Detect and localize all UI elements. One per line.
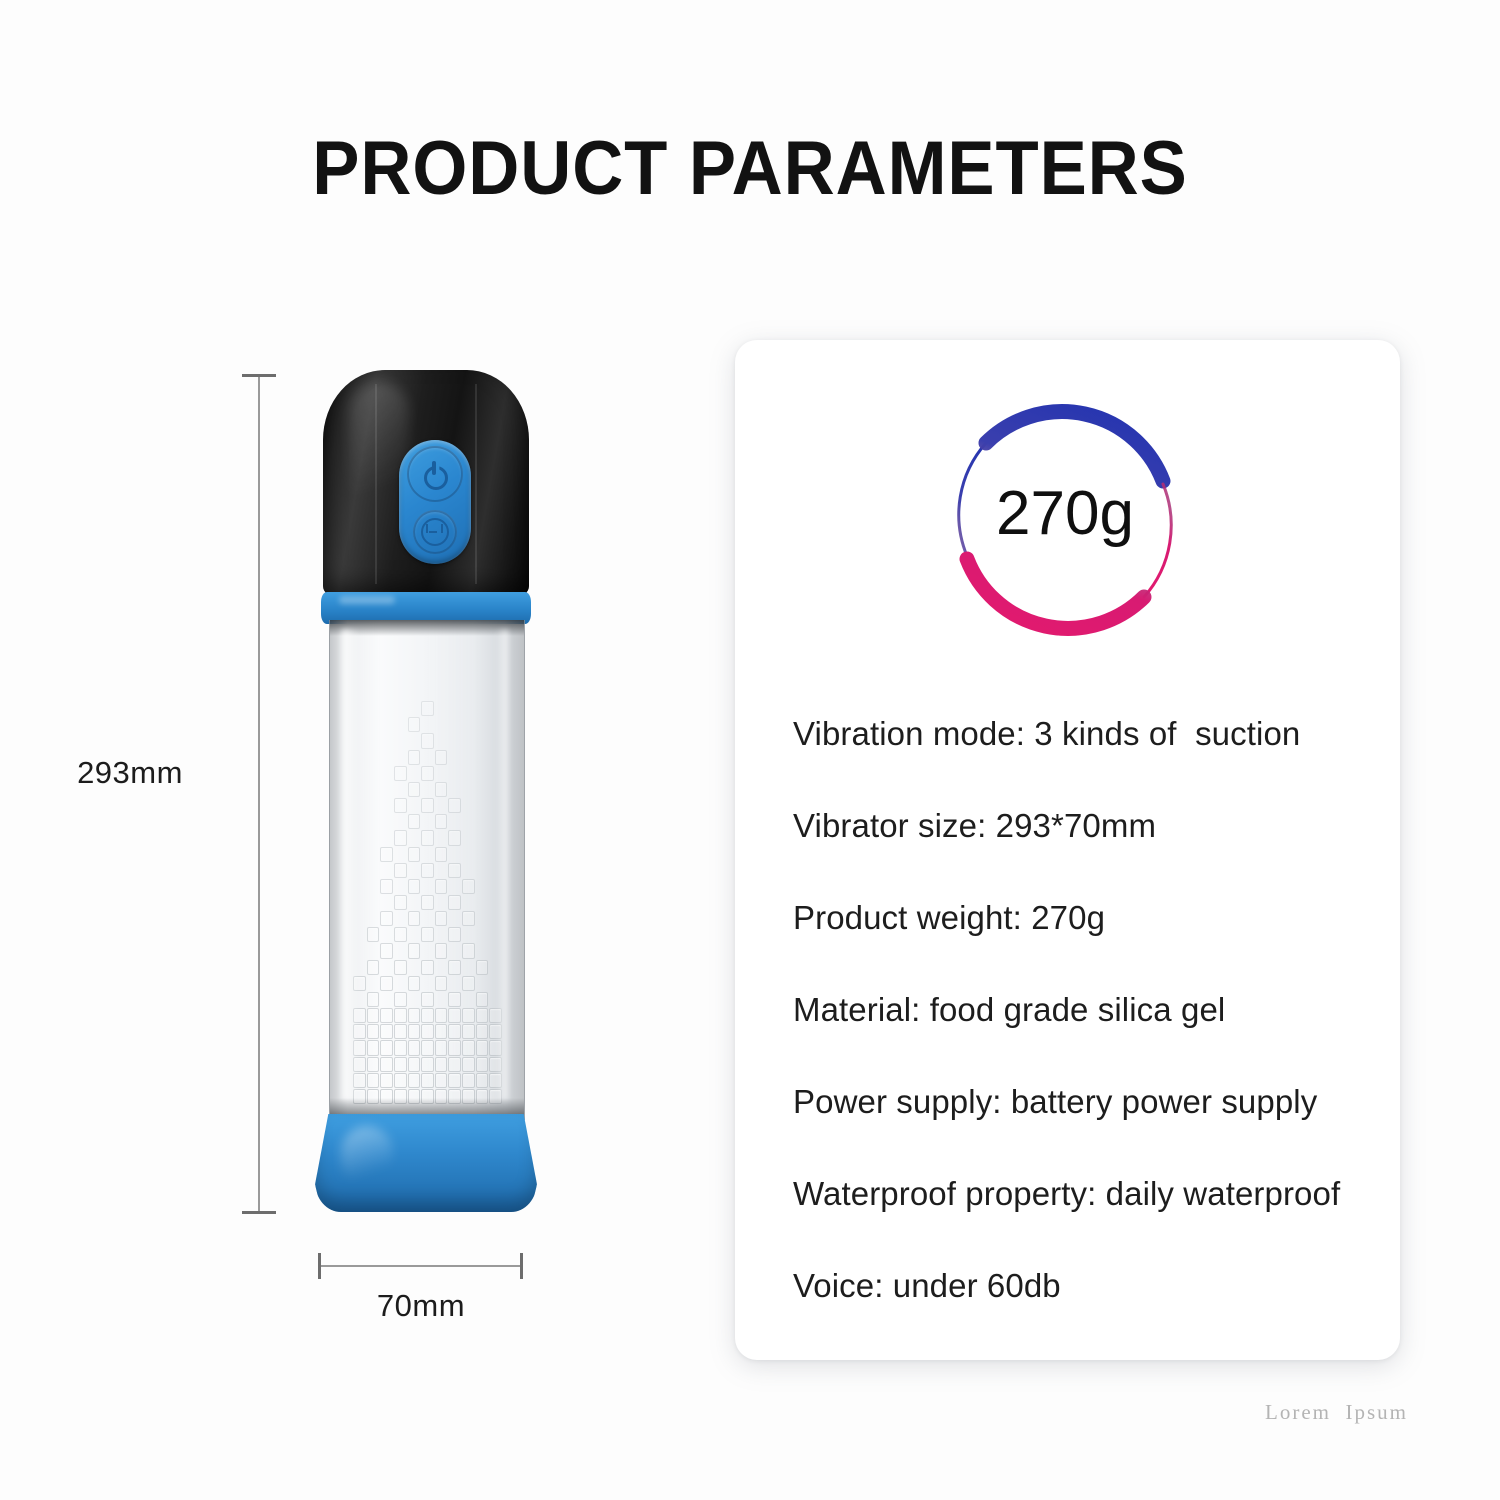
sleeve-texture-nub [448,1057,461,1072]
height-dimension-cap-bottom [242,1211,276,1214]
spec-line: Voice: under 60db [793,1240,1393,1332]
sleeve-texture-nub [380,1073,393,1088]
sleeve-texture-nub [435,1024,448,1039]
sleeve-texture-nub [421,1073,434,1088]
sleeve-texture-nub [462,1073,475,1088]
width-dimension-cap-right [520,1253,523,1279]
power-button[interactable] [407,446,463,502]
device-cap [323,370,529,598]
sleeve-texture-nub [421,1040,434,1055]
sleeve-texture-nub [448,1040,461,1055]
sleeve-texture-nub [367,1008,380,1023]
sleeve-texture-nub [394,895,407,910]
mode-button[interactable] [413,510,457,554]
sleeve-texture-nub [380,847,393,862]
sleeve-texture-nub [421,960,434,975]
sleeve-texture-nub [394,1040,407,1055]
sleeve-texture-nub [421,1024,434,1039]
sleeve-texture-nub [367,1040,380,1055]
sleeve-texture-nub [448,992,461,1007]
sleeve-texture-nub [408,1008,421,1023]
sleeve-texture-nub [448,895,461,910]
sleeve-texture-nub [408,814,421,829]
specifications-card: 270g Vibration mode: 3 kinds of suctionV… [735,340,1400,1360]
sleeve-texture-nub [408,1024,421,1039]
spec-list: Vibration mode: 3 kinds of suctionVibrat… [793,688,1393,1332]
sleeve-texture-nub [435,847,448,862]
sleeve-texture-nub [421,830,434,845]
sleeve-texture-nub [408,911,421,926]
sleeve-texture-nub [394,1057,407,1072]
sleeve-texture-nub [476,1073,489,1088]
device-cylinder [329,620,525,1120]
sleeve-texture-nub [435,1040,448,1055]
device-base [315,1114,537,1212]
sleeve-texture-nub [408,847,421,862]
sleeve-texture-nub [421,1057,434,1072]
product-parameters-page: PRODUCT PARAMETERS 293mm 70mm [0,0,1500,1500]
collar-highlight [339,596,395,604]
cap-seam-left [375,384,377,584]
sleeve-texture-nub [435,750,448,765]
sleeve-texture-nub [421,733,434,748]
sleeve-texture-nub [367,1073,380,1088]
sleeve-texture-nub [421,1008,434,1023]
sleeve-texture-nub [408,717,421,732]
height-dimension-line [258,376,260,1214]
sleeve-texture-nub [394,960,407,975]
sleeve-texture-nub [421,798,434,813]
sleeve-texture-nub [435,1008,448,1023]
product-figure: 293mm 70mm [100,360,660,1350]
base-highlight [341,1126,393,1186]
sleeve-texture-nub [394,1073,407,1088]
sleeve-texture-nub [380,1024,393,1039]
spec-line: Power supply: battery power supply [793,1056,1393,1148]
sleeve-texture-nub [380,943,393,958]
cylinder-top-shade [330,620,524,636]
sleeve-texture-nub [394,863,407,878]
cylinder-highlight-left [342,630,358,1100]
sleeve-texture-nub [380,911,393,926]
sleeve-texture-nub [380,1057,393,1072]
sleeve-texture-nub [448,863,461,878]
sleeve-texture-nub [367,1057,380,1072]
sleeve-texture-nub [421,863,434,878]
sleeve-texture-nub [408,750,421,765]
sleeve-texture-nub [435,1057,448,1072]
spec-line: Vibration mode: 3 kinds of suction [793,688,1393,780]
sleeve-texture-nub [367,992,380,1007]
sleeve-texture-nub [476,1008,489,1023]
width-dimension-line [318,1265,523,1267]
sleeve-texture-nub [462,976,475,991]
sleeve-texture-nub [448,830,461,845]
sleeve-texture-nub [421,766,434,781]
sleeve-texture-nub [421,992,434,1007]
sleeve-texture-nub [448,1024,461,1039]
sleeve-texture-nub [462,943,475,958]
sleeve-texture-nub [394,1008,407,1023]
textured-sleeve [352,684,502,1104]
spec-line: Waterproof property: daily waterproof [793,1148,1393,1240]
sleeve-texture-nub [435,879,448,894]
sleeve-texture-nub [476,1024,489,1039]
height-dimension-label: 293mm [15,755,245,791]
width-dimension-cap-left [318,1253,321,1279]
sleeve-texture-nub [394,927,407,942]
sleeve-texture-nub [408,976,421,991]
sleeve-texture-nub [380,1008,393,1023]
cap-seam-right [475,384,477,584]
product-device-image [315,370,537,1215]
watermark: Lorem Ipsum [1265,1400,1408,1425]
height-dimension-cap-top [242,374,276,377]
power-icon [422,461,448,487]
sleeve-texture-nub [435,976,448,991]
button-panel [399,440,471,564]
sleeve-texture-nub [408,943,421,958]
sleeve-texture-nub [367,1024,380,1039]
sleeve-texture-nub [462,1057,475,1072]
sleeve-texture-nub [380,976,393,991]
sleeve-texture-nub [462,1040,475,1055]
cylinder-highlight-right [496,630,508,1100]
sleeve-texture-nub [394,1024,407,1039]
sleeve-texture-nub [394,798,407,813]
sleeve-texture-nub [367,927,380,942]
weight-badge: 270g [925,380,1205,660]
sleeve-texture-nub [408,879,421,894]
sleeve-texture-nub [367,960,380,975]
sleeve-texture-nub [435,782,448,797]
sleeve-texture-nub [476,992,489,1007]
spec-line: Vibrator size: 293*70mm [793,780,1393,872]
sleeve-texture-nub [462,1024,475,1039]
sleeve-texture-nub [408,782,421,797]
spec-line: Material: food grade silica gel [793,964,1393,1056]
sleeve-texture-nub [408,1040,421,1055]
sleeve-texture-nub [448,1008,461,1023]
sleeve-texture-nub [408,1073,421,1088]
sleeve-texture-nub [448,1073,461,1088]
sleeve-texture-nub [462,879,475,894]
sleeve-texture-nub [394,830,407,845]
sleeve-texture-nub [394,992,407,1007]
mode-icon [421,518,449,546]
sleeve-texture-nub [448,798,461,813]
sleeve-texture-nub [380,879,393,894]
sleeve-texture-nub [476,960,489,975]
sleeve-texture-nub [476,1040,489,1055]
width-dimension-label: 70mm [305,1288,537,1324]
sleeve-texture-nub [435,911,448,926]
sleeve-texture-nub [408,1057,421,1072]
sleeve-texture-nub [435,943,448,958]
spec-line: Product weight: 270g [793,872,1393,964]
sleeve-texture-nub [421,927,434,942]
sleeve-texture-nub [435,814,448,829]
sleeve-texture-nub [435,1073,448,1088]
weight-value: 270g [925,478,1205,549]
sleeve-texture-nub [462,911,475,926]
sleeve-texture-nub [421,701,434,716]
sleeve-texture-nub [448,927,461,942]
page-title: PRODUCT PARAMETERS [53,125,1448,212]
sleeve-texture-nub [448,960,461,975]
sleeve-texture-nub [380,1040,393,1055]
sleeve-texture-nub [462,1008,475,1023]
sleeve-texture-nub [421,895,434,910]
sleeve-texture-nub [394,766,407,781]
sleeve-texture-nub [476,1057,489,1072]
